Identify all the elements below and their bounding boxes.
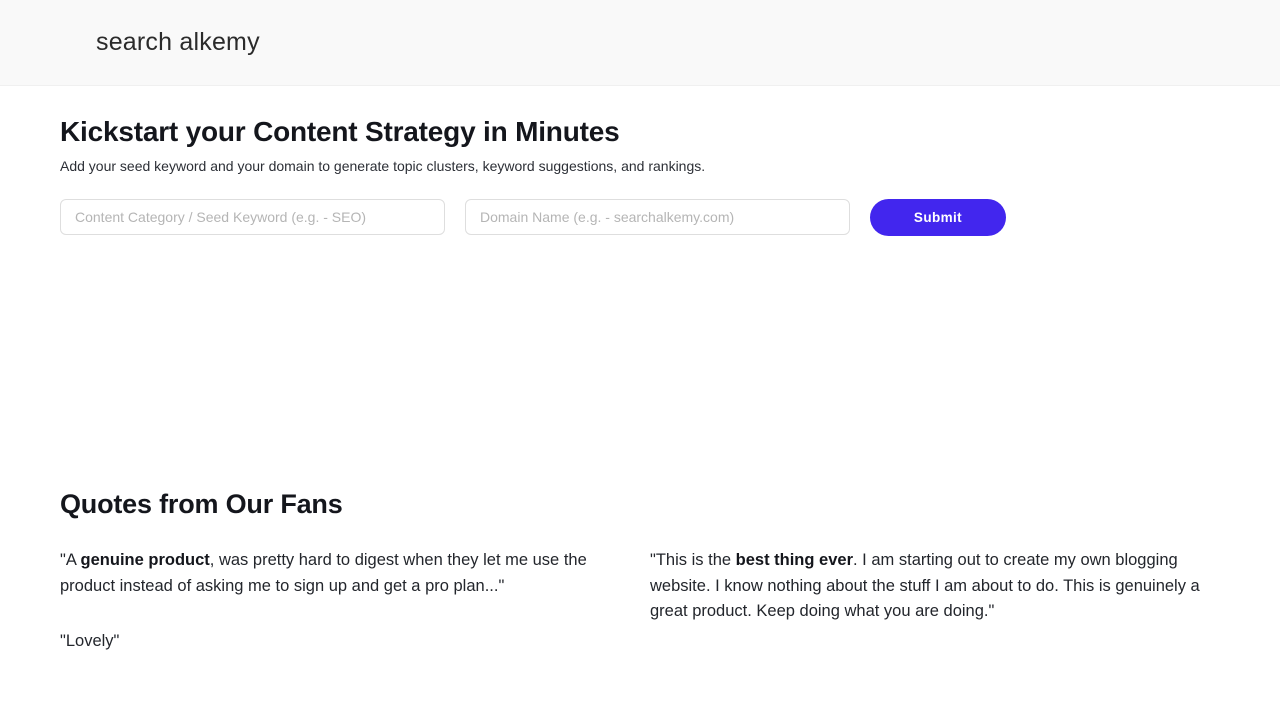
seed-keyword-input[interactable] bbox=[60, 199, 445, 235]
page-subtitle: Add your seed keyword and your domain to… bbox=[60, 157, 1220, 177]
quote-item: "Lovely" bbox=[60, 629, 620, 655]
quote-highlight: genuine product bbox=[81, 551, 210, 569]
submit-button[interactable]: Submit bbox=[870, 199, 1006, 236]
search-form: Submit bbox=[60, 199, 1220, 236]
testimonials-section: Quotes from Our Fans "A genuine product,… bbox=[0, 488, 1280, 655]
page-main: Kickstart your Content Strategy in Minut… bbox=[0, 86, 1280, 655]
hero-section: Kickstart your Content Strategy in Minut… bbox=[0, 86, 1280, 236]
quote-prefix: "Lovely" bbox=[60, 632, 119, 650]
quote-item: "This is the best thing ever. I am start… bbox=[650, 548, 1220, 625]
page-title: Kickstart your Content Strategy in Minut… bbox=[60, 86, 1220, 149]
quote-prefix: "This is the bbox=[650, 551, 736, 569]
quote-prefix: "A bbox=[60, 551, 81, 569]
results-region bbox=[0, 236, 1280, 488]
brand-logo[interactable]: search alkemy bbox=[96, 30, 260, 55]
testimonials-title: Quotes from Our Fans bbox=[60, 488, 1220, 520]
domain-name-input[interactable] bbox=[465, 199, 850, 235]
quote-column-right: "This is the best thing ever. I am start… bbox=[650, 548, 1220, 655]
quote-column-left: "A genuine product, was pretty hard to d… bbox=[60, 548, 620, 655]
quote-item: "A genuine product, was pretty hard to d… bbox=[60, 548, 620, 599]
quote-highlight: best thing ever bbox=[736, 551, 853, 569]
quote-grid: "A genuine product, was pretty hard to d… bbox=[60, 548, 1220, 655]
site-header: search alkemy bbox=[0, 0, 1280, 86]
